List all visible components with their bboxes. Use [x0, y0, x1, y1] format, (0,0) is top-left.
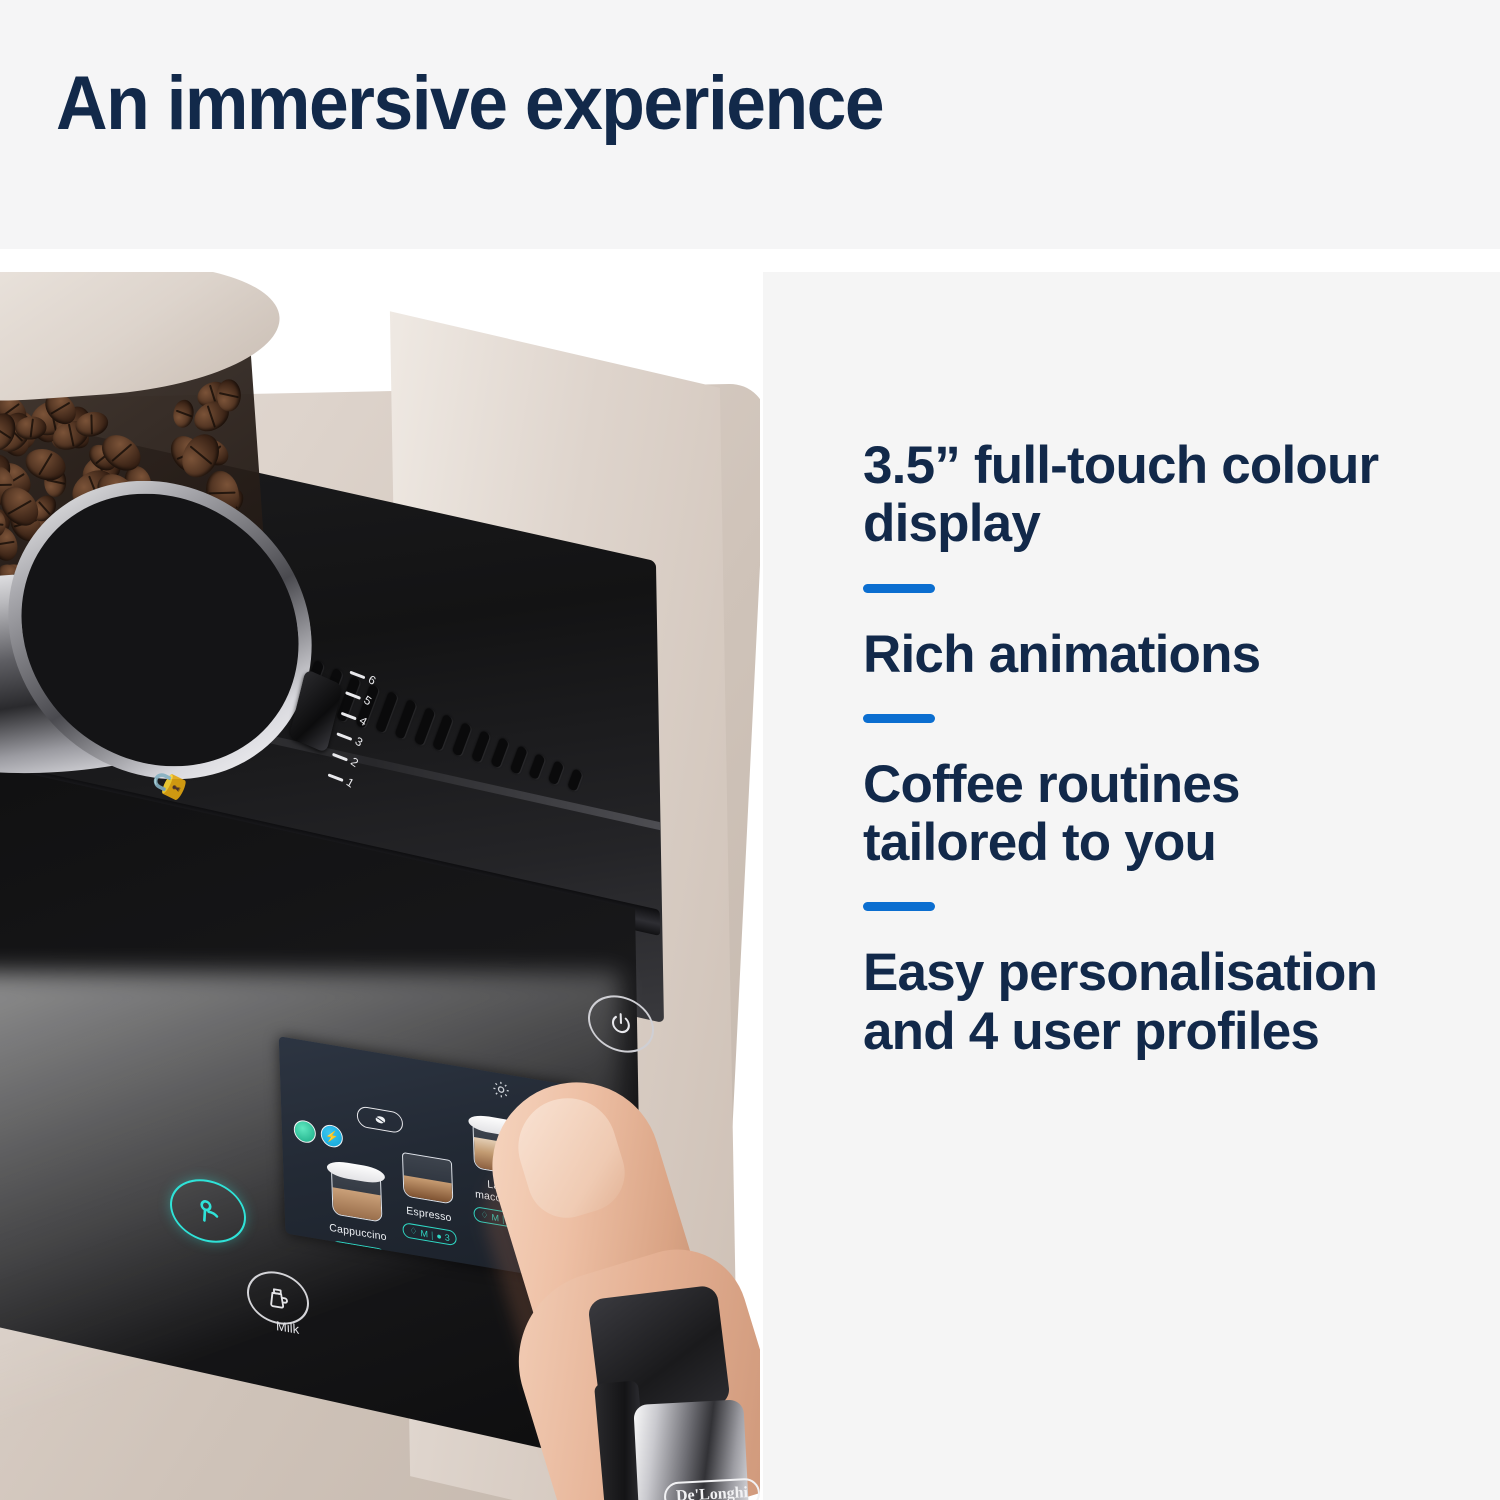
feature-item-2: Rich animations [863, 626, 1430, 684]
milk-carafe-icon [265, 1283, 292, 1313]
feature-title: Rich animations [863, 626, 1430, 684]
bean-icon: ● [436, 1230, 442, 1241]
divider [863, 584, 935, 593]
coffee-bean [171, 399, 195, 429]
grind-tick-label: 3 [353, 734, 365, 750]
grind-tick-label: 5 [362, 693, 374, 709]
feature-title: Easy personalisation and 4 user profiles [863, 944, 1430, 1061]
feature-item-1: 3.5” full-touch colour display [863, 437, 1430, 554]
feature-list: 3.5” full-touch colour display Rich anim… [763, 272, 1500, 1500]
grind-tick [337, 732, 353, 740]
cup-size-icon: ♢ [409, 1225, 417, 1237]
grind-tick-label: 4 [357, 713, 369, 729]
header-band: An immersive experience [0, 0, 1500, 249]
user-profile-icon [192, 1194, 223, 1229]
page-title: An immersive experience [56, 66, 883, 142]
feature-item-4: Easy personalisation and 4 user profiles [863, 944, 1430, 1061]
vent-slot [548, 760, 564, 786]
power-icon [608, 1009, 635, 1039]
grind-tick [332, 753, 348, 761]
vent-slot [529, 753, 546, 781]
vent-slot [567, 768, 583, 792]
vent-slot [413, 706, 435, 746]
vent-slot [433, 714, 454, 752]
grind-tick-label: 2 [349, 754, 361, 770]
marketing-slide: An immersive experience 🔒 654321 [0, 0, 1500, 1500]
feature-title: Coffee routines tailored to you [863, 756, 1430, 873]
vent-slot [452, 722, 472, 758]
vent-slot [509, 745, 527, 775]
grind-tick-label: 6 [366, 672, 378, 688]
grind-tick [350, 671, 366, 679]
grind-tick [345, 691, 361, 699]
grind-tick-label: 1 [344, 775, 356, 791]
vent-slot [471, 729, 490, 763]
badge-size: M [420, 1228, 428, 1239]
product-photo: 🔒 654321 [0, 272, 760, 1500]
badge-separator: | [431, 1229, 434, 1239]
divider [863, 714, 935, 723]
feature-item-3: Coffee routines tailored to you [863, 756, 1430, 873]
photo-stage: 🔒 654321 [0, 272, 760, 1500]
gear-icon [491, 1078, 512, 1101]
grind-tick [341, 712, 357, 720]
divider [863, 902, 935, 911]
carafe-brand-mark: De'Longhi [663, 1478, 760, 1500]
feature-title: 3.5” full-touch colour display [863, 437, 1430, 554]
vent-slot [490, 737, 509, 769]
coffee-bean [217, 379, 241, 411]
grind-tick [328, 773, 344, 781]
cup-illustration [325, 1159, 389, 1228]
settings-button[interactable] [491, 1078, 512, 1101]
